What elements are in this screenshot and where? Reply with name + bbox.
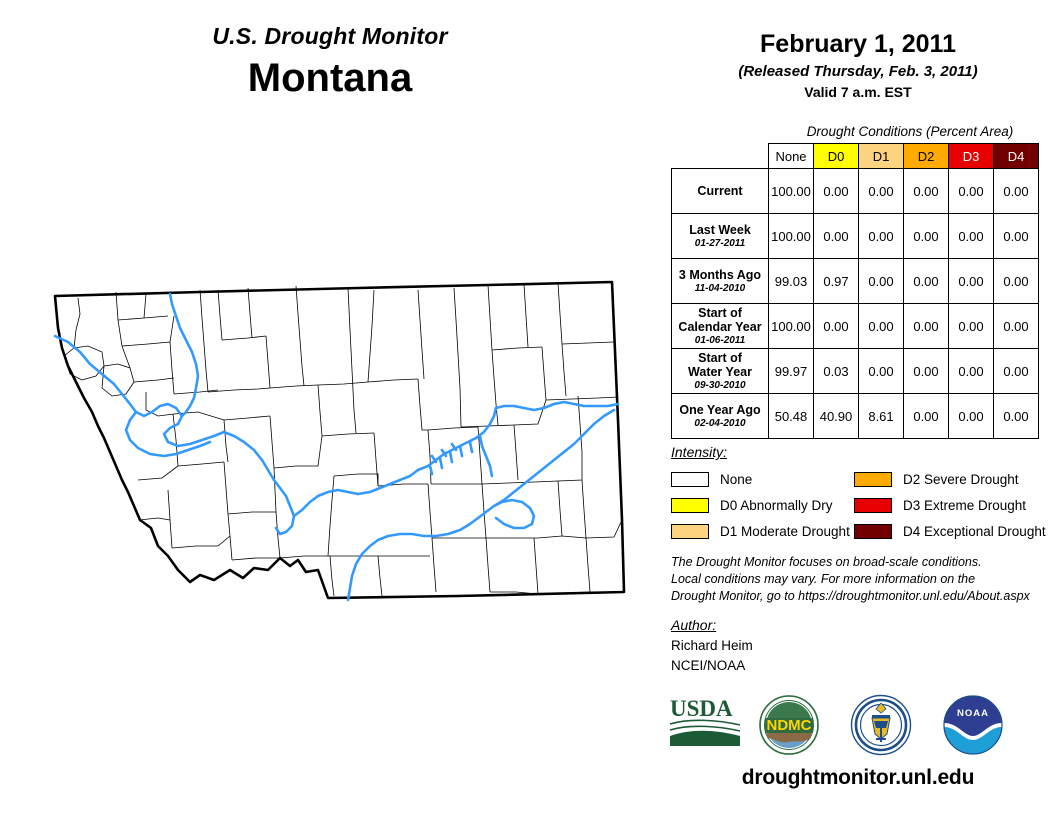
table-caption: Drought Conditions (Percent Area) [770,124,1050,139]
cell-d4: 0.00 [994,394,1039,439]
cell-d0: 0.00 [814,304,859,349]
legend-column-left: None D0 Abnormally Dry D1 Moderate Droug… [671,466,850,544]
legend-label-d3: D3 Extreme Drought [903,498,1026,513]
cell-d4: 0.00 [994,259,1039,304]
date-block: February 1, 2011 (Released Thursday, Feb… [660,30,1056,100]
row-label-text: Start ofWater Year [688,351,752,379]
cell-d2: 0.00 [904,394,949,439]
cell-none: 100.00 [769,214,814,259]
disclaimer-line-3[interactable]: Drought Monitor, go to https://droughtmo… [671,588,1051,605]
program-title: U.S. Drought Monitor [0,24,660,49]
ndmc-logo-svg: NDMC [758,694,820,756]
table-header-row: None D0 D1 D2 D3 D4 [672,144,1039,169]
author-heading: Author: [671,617,716,633]
valid-note: Valid 7 a.m. EST [660,84,1056,100]
legend-swatch-none [671,472,709,487]
disclaimer-line-1: The Drought Monitor focuses on broad-sca… [671,554,1051,571]
cell-d4: 0.00 [994,304,1039,349]
table-header: None D0 D1 D2 D3 D4 [672,144,1039,169]
row-label-date: 01-06-2011 [675,335,765,346]
cell-none: 100.00 [769,304,814,349]
release-date: February 1, 2011 [660,30,1056,59]
cell-none: 50.48 [769,394,814,439]
cell-d2: 0.00 [904,349,949,394]
map-title-block: U.S. Drought Monitor Montana [0,24,660,101]
row-label-last-week: Last Week 01-27-2011 [672,214,769,259]
row-label-text: 3 Months Ago [679,268,761,282]
cell-d4: 0.00 [994,214,1039,259]
column-header-d1: D1 [859,144,904,169]
usda-logo-svg: USDA [668,694,742,750]
row-label-start-of-calendar-year: Start ofCalendar Year 01-06-2011 [672,304,769,349]
cell-d1: 0.00 [859,169,904,214]
cell-d1: 0.00 [859,349,904,394]
svg-text:USDA: USDA [670,696,733,721]
ndmc-logo[interactable]: NDMC [758,694,820,761]
column-header-d4: D4 [994,144,1039,169]
row-label-text: Current [697,184,742,198]
legend-label-d4: D4 Exceptional Drought [903,524,1046,539]
cell-d1: 8.61 [859,394,904,439]
legend-swatch-d1 [671,524,709,539]
table-row: One Year Ago 02-04-2010 50.48 40.90 8.61… [672,394,1039,439]
legend-swatch-d2 [854,472,892,487]
cell-d2: 0.00 [904,169,949,214]
disclaimer-line-2: Local conditions may vary. For more info… [671,571,1051,588]
author-name: Richard Heim [671,636,753,656]
row-label-date: 09-30-2010 [675,380,765,391]
row-label-date: 11-04-2010 [675,283,765,294]
row-label-current: Current [672,169,769,214]
intensity-heading: Intensity: [671,444,727,460]
montana-drought-map[interactable] [18,270,648,630]
legend-swatch-d0 [671,498,709,513]
table-row: Last Week 01-27-2011 100.00 0.00 0.00 0.… [672,214,1039,259]
row-label-text: One Year Ago [679,403,760,417]
cell-d4: 0.00 [994,169,1039,214]
cell-d0: 0.03 [814,349,859,394]
table-body: Current 100.00 0.00 0.00 0.00 0.00 0.00 … [672,169,1039,439]
svg-text:NDMC: NDMC [767,717,812,734]
cell-d1: 0.00 [859,304,904,349]
cell-d0: 0.00 [814,214,859,259]
cell-d3: 0.00 [949,349,994,394]
legend-item-d3: D3 Extreme Drought [854,492,1046,518]
author-affiliation: NCEI/NOAA [671,656,753,676]
cell-d3: 0.00 [949,259,994,304]
cell-d3: 0.00 [949,214,994,259]
legend-item-d4: D4 Exceptional Drought [854,518,1046,544]
row-label-one-year-ago: One Year Ago 02-04-2010 [672,394,769,439]
us-department-of-commerce-seal[interactable] [850,694,912,761]
cell-d0: 0.00 [814,169,859,214]
cell-d2: 0.00 [904,214,949,259]
column-header-d2: D2 [904,144,949,169]
cell-d1: 0.00 [859,214,904,259]
doc-seal-svg [850,694,912,756]
row-label-3-months-ago: 3 Months Ago 11-04-2010 [672,259,769,304]
cell-d0: 0.97 [814,259,859,304]
noaa-logo[interactable]: NOAA [942,694,1004,761]
legend-swatch-d4 [854,524,892,539]
legend-item-d2: D2 Severe Drought [854,466,1046,492]
state-fill [55,282,624,598]
legend-label-none: None [720,472,752,487]
legend-label-d2: D2 Severe Drought [903,472,1019,487]
noaa-logo-svg: NOAA [942,694,1004,756]
table-corner-cell [672,144,769,169]
row-label-date: 02-04-2010 [675,418,765,429]
cell-d3: 0.00 [949,394,994,439]
legend-swatch-d3 [854,498,892,513]
legend-column-right: D2 Severe Drought D3 Extreme Drought D4 … [854,466,1046,544]
map-svg [18,270,648,630]
legend-item-d0: D0 Abnormally Dry [671,492,850,518]
column-header-d3: D3 [949,144,994,169]
row-label-text: Start ofCalendar Year [678,306,761,334]
cell-d3: 0.00 [949,169,994,214]
row-label-date: 01-27-2011 [675,238,765,249]
cell-d2: 0.00 [904,259,949,304]
table-row: Current 100.00 0.00 0.00 0.00 0.00 0.00 [672,169,1039,214]
state-title: Montana [0,55,660,101]
disclaimer: The Drought Monitor focuses on broad-sca… [671,554,1051,605]
released-note: (Released Thursday, Feb. 3, 2011) [660,63,1056,80]
drought-conditions-table: None D0 D1 D2 D3 D4 Current 100.00 0.00 … [671,143,1039,439]
site-url[interactable]: droughtmonitor.unl.edu [660,766,1056,790]
cell-d3: 0.00 [949,304,994,349]
cell-d0: 40.90 [814,394,859,439]
legend-label-d1: D1 Moderate Drought [720,524,850,539]
cell-d4: 0.00 [994,349,1039,394]
table-row: Start ofWater Year 09-30-2010 99.97 0.03… [672,349,1039,394]
usda-logo[interactable]: USDA [668,694,742,755]
row-label-start-of-water-year: Start ofWater Year 09-30-2010 [672,349,769,394]
row-label-text: Last Week [689,223,751,237]
legend-item-d1: D1 Moderate Drought [671,518,850,544]
author-block: Richard Heim NCEI/NOAA [671,636,753,675]
cell-none: 99.97 [769,349,814,394]
table-row: 3 Months Ago 11-04-2010 99.03 0.97 0.00 … [672,259,1039,304]
legend-label-d0: D0 Abnormally Dry [720,498,833,513]
column-header-none: None [769,144,814,169]
logo-row: USDA NDMC [660,694,1056,762]
column-header-d0: D0 [814,144,859,169]
table-row: Start ofCalendar Year 01-06-2011 100.00 … [672,304,1039,349]
cell-d2: 0.00 [904,304,949,349]
svg-text:NOAA: NOAA [957,708,989,719]
cell-none: 100.00 [769,169,814,214]
right-panel: February 1, 2011 (Released Thursday, Feb… [660,0,1056,816]
cell-none: 99.03 [769,259,814,304]
legend-item-none: None [671,466,850,492]
cell-d1: 0.00 [859,259,904,304]
